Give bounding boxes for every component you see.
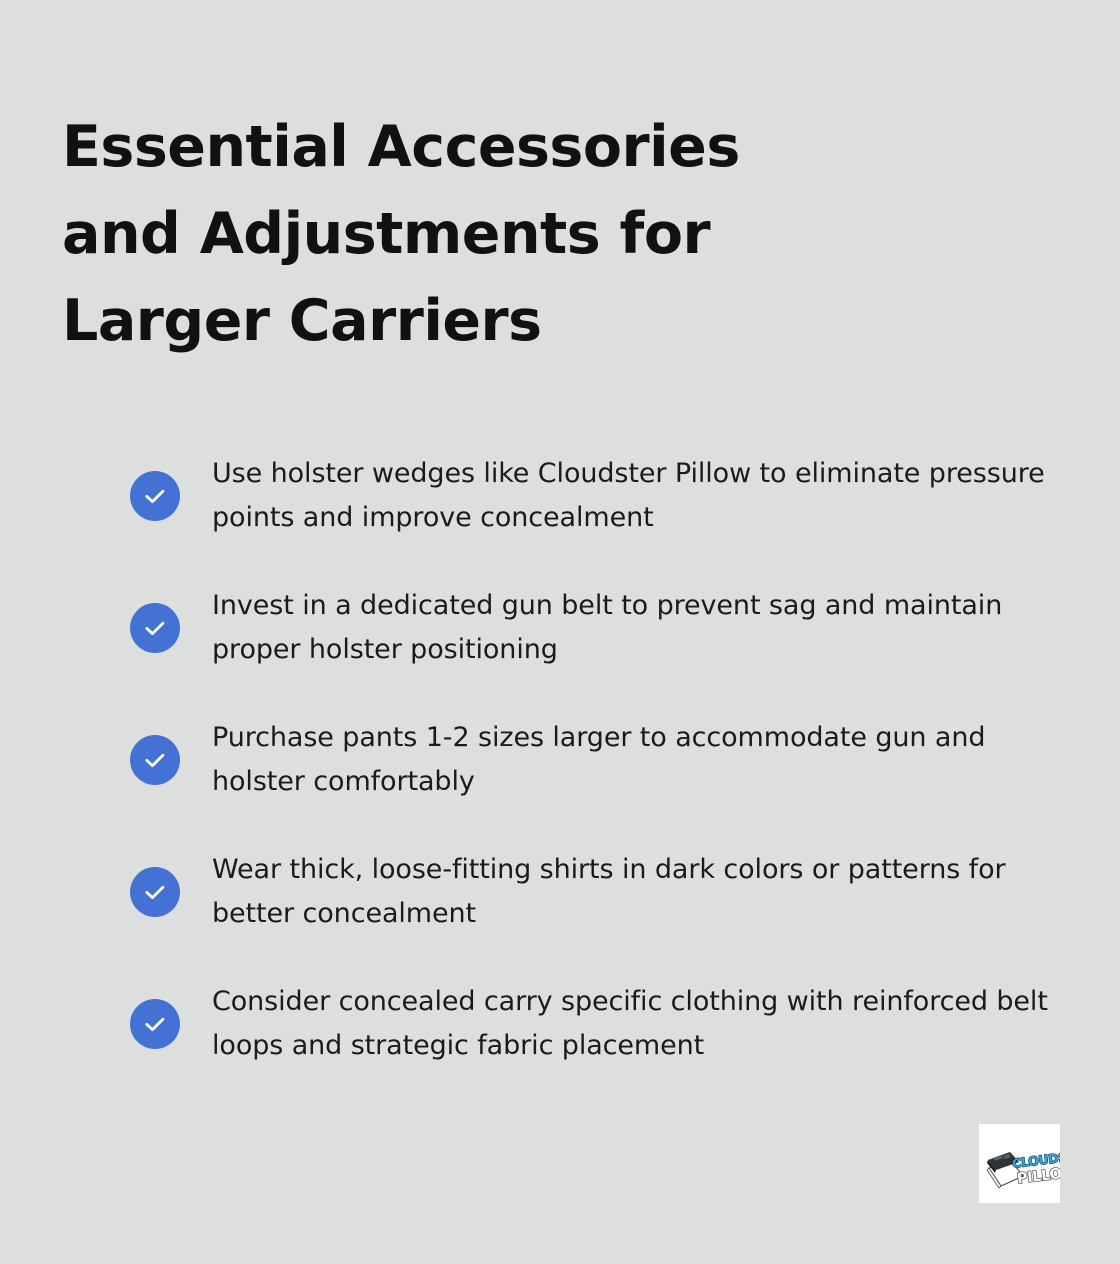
check-circle-icon — [130, 735, 180, 785]
list-item-label: Purchase pants 1-2 sizes larger to accom… — [180, 716, 1070, 804]
list-item-label: Consider concealed carry specific clothi… — [180, 980, 1070, 1068]
benefits-list: Use holster wedges like Cloudster Pillow… — [130, 452, 1070, 1068]
list-item-label: Wear thick, loose-fitting shirts in dark… — [180, 848, 1070, 936]
check-circle-icon — [130, 999, 180, 1049]
list-item: Wear thick, loose-fitting shirts in dark… — [130, 848, 1070, 936]
cloudster-pillow-logo: CLOUDSTER PILLOW — [979, 1124, 1060, 1203]
check-circle-icon — [130, 603, 180, 653]
check-circle-icon — [130, 471, 180, 521]
list-item: Consider concealed carry specific clothi… — [130, 980, 1070, 1068]
check-circle-icon — [130, 867, 180, 917]
list-item: Invest in a dedicated gun belt to preven… — [130, 584, 1070, 672]
page-title: Essential Accessories and Adjustments fo… — [62, 104, 872, 365]
title-block: Essential Accessories and Adjustments fo… — [62, 104, 902, 365]
brand-logo: CLOUDSTER PILLOW — [979, 1124, 1060, 1203]
list-item: Purchase pants 1-2 sizes larger to accom… — [130, 716, 1070, 804]
list-item-label: Invest in a dedicated gun belt to preven… — [180, 584, 1070, 672]
list-item-label: Use holster wedges like Cloudster Pillow… — [180, 452, 1070, 540]
infographic-canvas: Essential Accessories and Adjustments fo… — [0, 0, 1120, 1264]
list-item: Use holster wedges like Cloudster Pillow… — [130, 452, 1070, 540]
